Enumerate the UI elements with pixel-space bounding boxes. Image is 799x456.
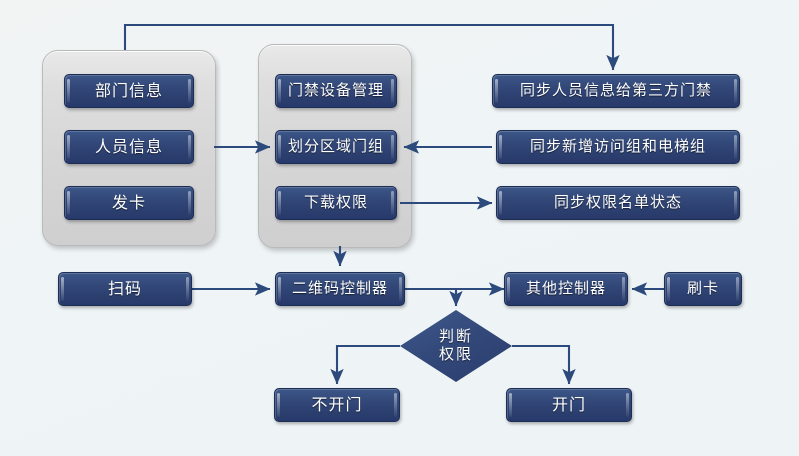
wire-decision-to-open bbox=[512, 346, 569, 384]
node-device-management[interactable]: 门禁设备管理 bbox=[275, 74, 397, 108]
node-other-controller[interactable]: 其他控制器 bbox=[504, 272, 628, 306]
node-zone-door-group[interactable]: 划分区域门组 bbox=[275, 130, 397, 164]
node-swipe-card[interactable]: 刷卡 bbox=[664, 272, 742, 306]
decision-judge-permission[interactable]: 判断 权限 bbox=[400, 310, 512, 382]
node-personnel-info[interactable]: 人员信息 bbox=[64, 130, 194, 164]
node-sync-visit-elevator-group[interactable]: 同步新增访问组和电梯组 bbox=[496, 130, 740, 164]
node-issue-card[interactable]: 发卡 bbox=[64, 186, 194, 220]
node-sync-permission-status[interactable]: 同步权限名单状态 bbox=[496, 186, 740, 220]
node-download-permission[interactable]: 下载权限 bbox=[275, 186, 397, 220]
node-qr-controller[interactable]: 二维码控制器 bbox=[275, 272, 405, 306]
diamond-shape bbox=[400, 310, 512, 382]
node-open-door[interactable]: 开门 bbox=[506, 388, 632, 422]
wire-decision-to-no-open bbox=[337, 346, 400, 384]
node-sync-person-third-party[interactable]: 同步人员信息给第三方门禁 bbox=[492, 74, 740, 108]
flowchart-canvas: 部门信息 人员信息 发卡 门禁设备管理 划分区域门组 下载权限 同步人员信息给第… bbox=[0, 0, 799, 456]
node-department-info[interactable]: 部门信息 bbox=[64, 74, 194, 108]
node-no-open-door[interactable]: 不开门 bbox=[274, 388, 400, 422]
node-scan-code[interactable]: 扫码 bbox=[58, 272, 192, 306]
